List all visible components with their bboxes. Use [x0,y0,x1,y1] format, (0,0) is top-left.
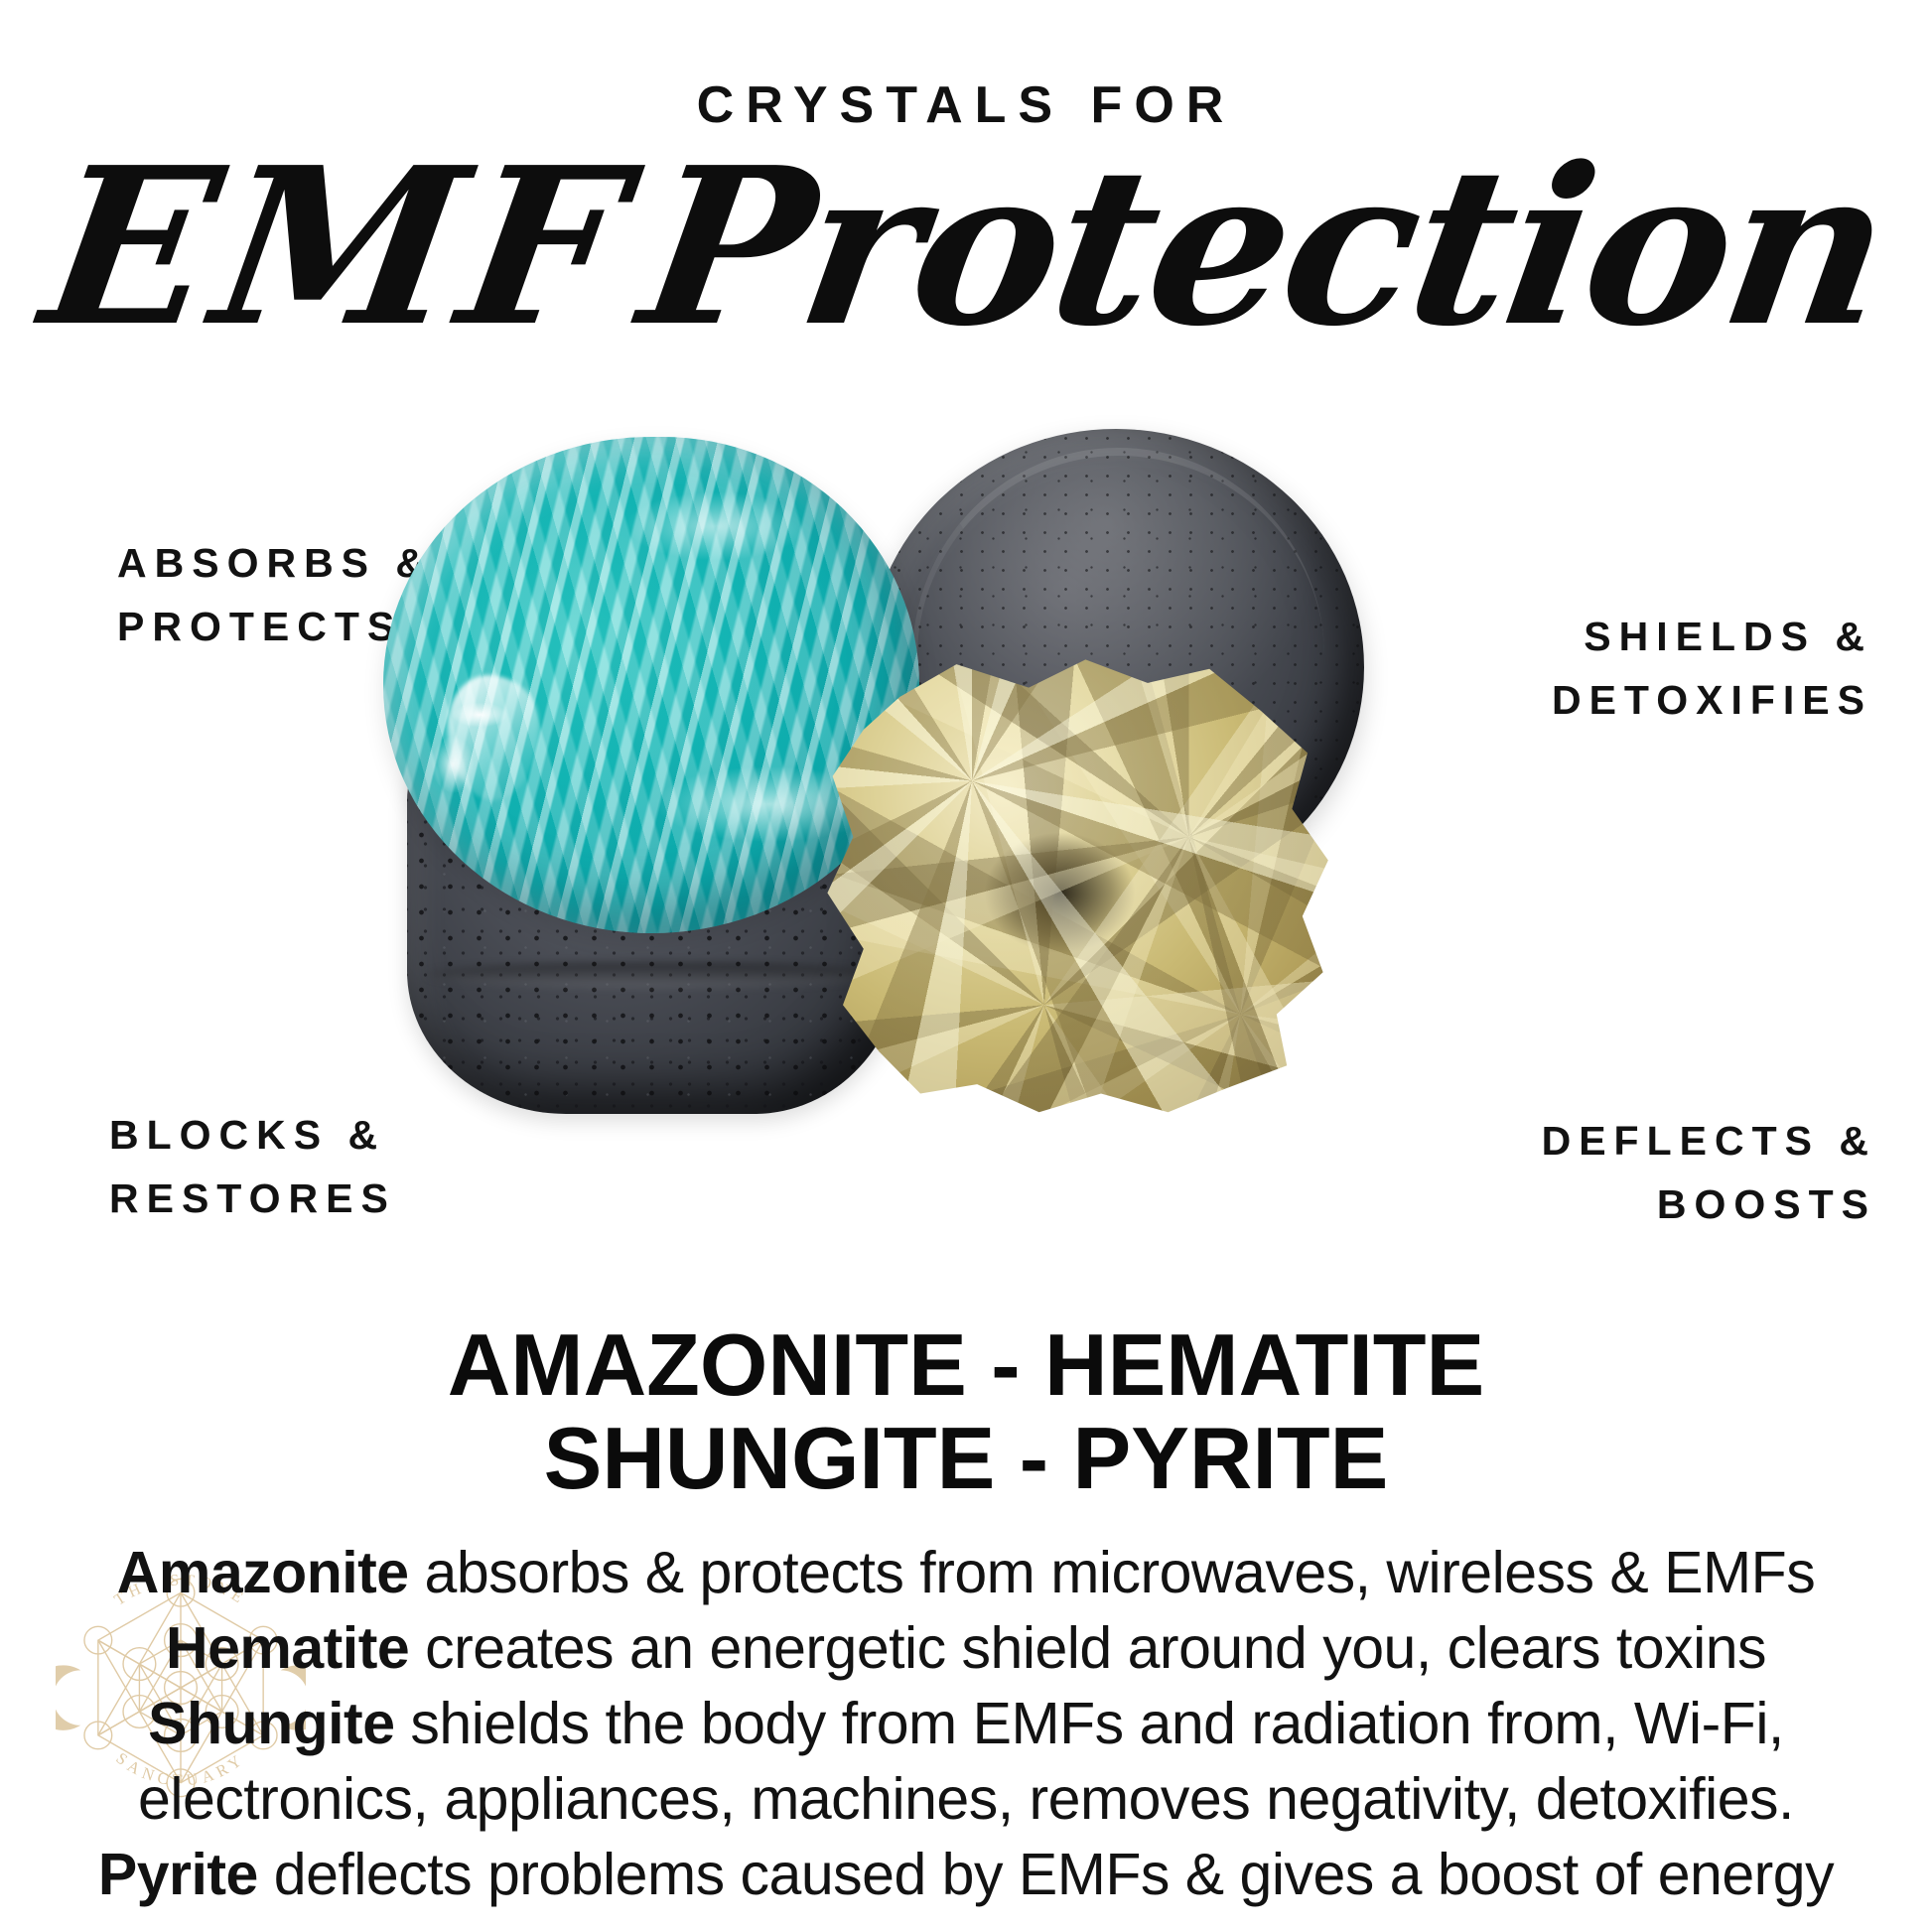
body-description: Amazonite absorbs & protects from microw… [50,1535,1882,1913]
poster-canvas: CRYSTALS FOR EMFProtection ABSORBS & PRO… [0,0,1932,1932]
page-title: EMFProtection [0,139,1932,355]
body-line-pyrite: Pyrite deflects problems caused by EMFs … [50,1837,1882,1912]
body-bold-amazonite: Amazonite [117,1540,409,1605]
pyrite-stone [817,650,1333,1117]
crystal-names-line2: SHUNGITE - PYRITE [0,1412,1932,1505]
crystal-cluster-image [365,437,1547,1311]
body-line-shungite: Shungite shields the body from EMFs and … [50,1686,1882,1837]
body-text-hematite: creates an energetic shield around you, … [409,1615,1766,1681]
title-protection: Protection [627,120,1902,374]
body-line-hematite: Hematite creates an energetic shield aro… [50,1610,1882,1686]
body-bold-pyrite: Pyrite [98,1842,258,1907]
body-line-amazonite: Amazonite absorbs & protects from microw… [50,1535,1882,1610]
body-text-amazonite: absorbs & protects from microwaves, wire… [409,1540,1816,1605]
body-bold-shungite: Shungite [148,1691,394,1756]
amazonite-stone [383,437,919,933]
crystal-names-heading: AMAZONITE - HEMATITE SHUNGITE - PYRITE [0,1318,1932,1505]
body-bold-hematite: Hematite [166,1615,409,1681]
body-text-pyrite: deflects problems caused by EMFs & gives… [258,1842,1834,1907]
title-emf: EMF [30,120,646,374]
crystal-names-line1: AMAZONITE - HEMATITE [0,1318,1932,1412]
